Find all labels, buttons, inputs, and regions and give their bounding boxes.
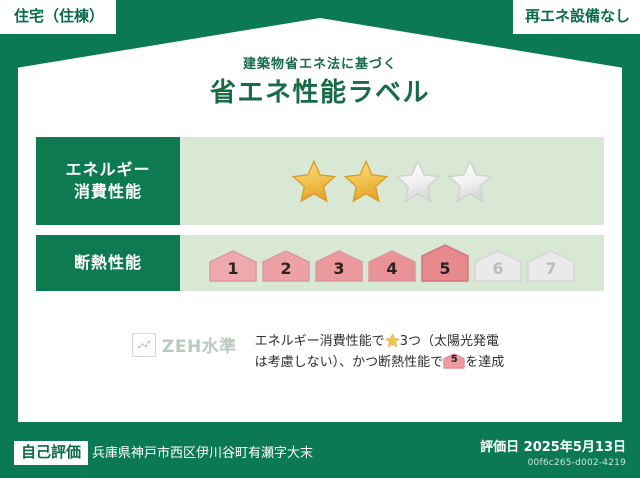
- inline-star-icon: [385, 333, 400, 348]
- footer-right: 評価日 2025年5月13日 00f6c265-d002-4219: [480, 440, 626, 468]
- zeh-note: ZEH水準 エネルギー消費性能で 3つ（太陽光発電 は考慮しない）、かつ断熱性能…: [36, 332, 604, 374]
- footer-left: 自己評価 兵庫県神戸市西区伊川谷町有瀬字大末: [14, 441, 313, 465]
- evaluation-date: 評価日 2025年5月13日: [480, 440, 626, 457]
- zeh-label: ZEH水準: [162, 332, 237, 357]
- star-filled-icon: [343, 159, 389, 203]
- star-filled-icon: [291, 159, 337, 203]
- evaluation-id: 00f6c265-d002-4219: [480, 458, 626, 468]
- property-address: 兵庫県神戸市西区伊川谷町有瀬字大末: [92, 442, 313, 461]
- building-type-tag: 住宅（住棟）: [0, 0, 116, 34]
- thermal-grade-scale: 1234567: [180, 235, 604, 291]
- thermal-grade-value: 4: [367, 259, 417, 278]
- energy-performance-label-cell: エネルギー 消費性能: [36, 137, 180, 225]
- thermal-grade-house-off: 7: [526, 243, 576, 283]
- zeh-dotted-square-icon: [132, 333, 156, 357]
- page-title: 省エネ性能ラベル: [0, 79, 640, 108]
- thermal-grade-value: 6: [473, 259, 523, 278]
- thermal-grade-house-on: 2: [261, 243, 311, 283]
- thermal-grade-house-off: 6: [473, 243, 523, 283]
- inline-house-grade-icon: 5: [443, 353, 465, 369]
- thermal-performance-label-cell: 断熱性能: [36, 235, 180, 291]
- label-title-block: 建築物省エネ法に基づく 省エネ性能ラベル: [0, 57, 640, 107]
- thermal-grade-value: 1: [208, 259, 258, 278]
- thermal-performance-row: 断熱性能 1234567: [36, 235, 604, 291]
- energy-label-line1: エネルギー: [65, 159, 150, 181]
- energy-label-line2: 消費性能: [74, 181, 142, 203]
- thermal-grade-house-on: 1: [208, 243, 258, 283]
- inline-house-grade-value: 5: [443, 352, 465, 368]
- thermal-grade-house-on: 3: [314, 243, 364, 283]
- ratings-container: エネルギー 消費性能 断熱性能 1234567: [36, 137, 604, 291]
- zeh-desc-part2: 3つ（太陽光発電: [400, 334, 499, 349]
- zeh-description: エネルギー消費性能で 3つ（太陽光発電 は考慮しない）、かつ断熱性能で 5 を達…: [247, 332, 604, 374]
- thermal-grade-value: 7: [526, 259, 576, 278]
- zeh-desc-part1: エネルギー消費性能で: [255, 334, 385, 349]
- star-empty-icon: [447, 159, 493, 203]
- thermal-grade-house-on: 5: [420, 243, 470, 283]
- energy-performance-label: 住宅（住棟） 再エネ設備なし 建築物省エネ法に基づく 省エネ性能ラベル エネルギ…: [0, 0, 640, 478]
- thermal-label: 断熱性能: [74, 252, 142, 274]
- thermal-grade-value: 5: [420, 259, 470, 278]
- title-subtitle: 建築物省エネ法に基づく: [0, 57, 640, 73]
- star-empty-icon: [395, 159, 441, 203]
- label-footer: 自己評価 兵庫県神戸市西区伊川谷町有瀬字大末 評価日 2025年5月13日 00…: [0, 424, 640, 478]
- renewable-energy-tag: 再エネ設備なし: [513, 0, 640, 34]
- zeh-desc-part3: は考慮しない）、かつ断熱性能で: [255, 355, 444, 370]
- thermal-grade-house-on: 4: [367, 243, 417, 283]
- thermal-grade-value: 3: [314, 259, 364, 278]
- self-evaluation-badge: 自己評価: [14, 441, 88, 465]
- thermal-grade-value: 2: [261, 259, 311, 278]
- zeh-desc-part4: を達成: [465, 355, 504, 370]
- energy-performance-row: エネルギー 消費性能: [36, 137, 604, 225]
- zeh-mark: ZEH水準: [36, 332, 237, 357]
- star-rating: [180, 137, 604, 225]
